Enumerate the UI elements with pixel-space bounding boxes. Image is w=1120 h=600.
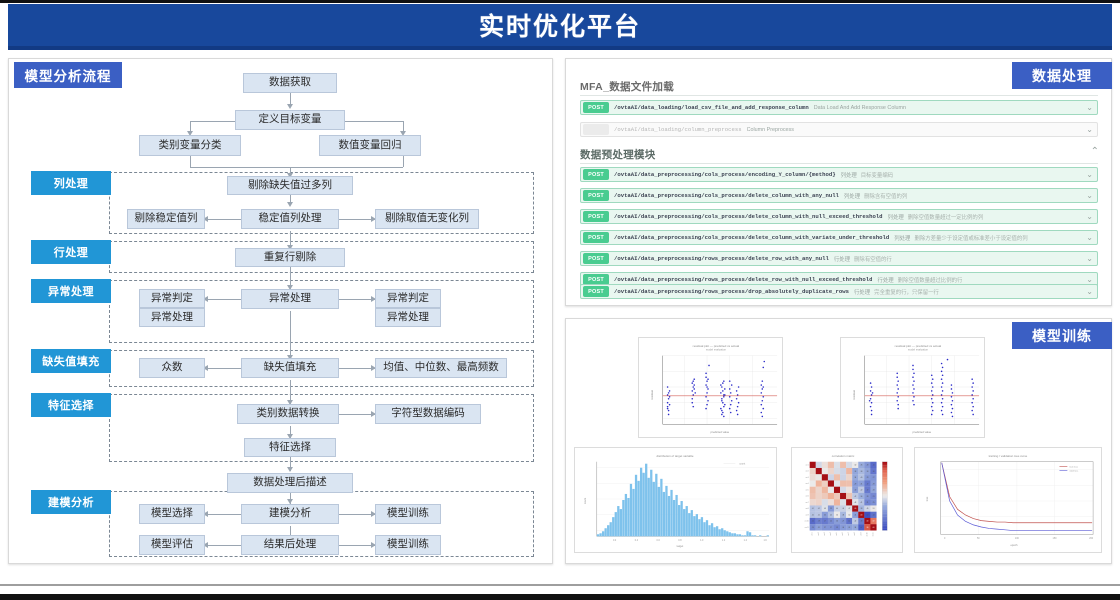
svg-text:.17: .17	[866, 483, 868, 485]
node-model-eval[interactable]: 模型评估	[139, 535, 205, 555]
stage-label-feature[interactable]: 特征选择	[31, 393, 111, 417]
svg-text:var11: var11	[872, 532, 874, 536]
left-edge-rule	[2, 50, 4, 584]
svg-text:150: 150	[1053, 537, 1058, 540]
svg-text:.44: .44	[842, 508, 844, 510]
svg-text:.18: .18	[860, 521, 862, 523]
svg-text:.30: .30	[824, 514, 826, 516]
node-result-post[interactable]: 结果后处理	[241, 535, 339, 555]
app-window: 实时优化平台	[0, 0, 1120, 600]
svg-text:.29: .29	[866, 477, 868, 479]
svg-text:.00: .00	[860, 514, 862, 516]
connector	[205, 219, 241, 220]
api-summary-cn: 删除空值数量超过比例的行	[898, 276, 963, 284]
svg-text:.31: .31	[818, 527, 820, 529]
svg-text:.41: .41	[812, 508, 814, 510]
node-mean-median-mode[interactable]: 均值、中位数、最高频数	[375, 358, 507, 378]
svg-text:.16: .16	[872, 471, 874, 473]
svg-text:var4: var4	[830, 532, 832, 535]
api-operation-row[interactable]: /ovtaAI/data_loading/column_preprocess C…	[580, 122, 1098, 137]
plot-loss-curve[interactable]: training / validation loss curve train l…	[914, 447, 1102, 553]
svg-text:.17: .17	[866, 490, 868, 492]
svg-text:target: target	[677, 544, 684, 548]
arrow-icon	[287, 202, 293, 207]
svg-text:.38: .38	[860, 508, 862, 510]
node-data-acquire[interactable]: 数据获取	[243, 73, 337, 93]
svg-text:.28: .28	[866, 465, 868, 467]
divider	[580, 95, 1098, 96]
svg-text:var6: var6	[805, 496, 808, 498]
svg-text:.50: .50	[836, 514, 838, 516]
svg-text:.41: .41	[860, 502, 862, 504]
svg-text:.30: .30	[842, 527, 844, 529]
api-summary: 列处理	[841, 171, 857, 179]
svg-text:var8: var8	[805, 508, 808, 510]
svg-text:var7: var7	[805, 502, 808, 504]
chevron-down-icon[interactable]: ⌄	[1086, 213, 1093, 221]
stage-label-row[interactable]: 行处理	[31, 240, 111, 264]
api-operation-row[interactable]: POST /ovtaAI/data_preprocessing/cols_pro…	[580, 188, 1098, 203]
svg-text:.42: .42	[860, 490, 862, 492]
connector	[190, 155, 191, 167]
svg-text:.07: .07	[860, 527, 862, 529]
connector	[205, 299, 241, 300]
svg-text:200: 200	[1089, 537, 1094, 540]
svg-text:.31: .31	[848, 527, 850, 529]
svg-text:.11: .11	[872, 465, 874, 467]
data-processing-panel: MFA_数据文件加载 POST /ovtaAI/data_loading/loa…	[565, 58, 1112, 306]
stage-label-outlier[interactable]: 异常处理	[31, 279, 111, 303]
svg-text:.40: .40	[830, 514, 832, 516]
svg-text:.27: .27	[830, 527, 832, 529]
svg-text:100: 100	[1015, 537, 1020, 540]
footer-rule	[0, 584, 1120, 586]
node-post-desc[interactable]: 数据处理后描述	[227, 473, 353, 493]
chevron-down-icon[interactable]: ⌄	[1086, 171, 1093, 179]
flowchart: 列处理 行处理 异常处理 缺失值填充 特征选择 建模分析 数据获取 定义目标变量…	[9, 59, 552, 563]
svg-text:predicted value: predicted value	[913, 430, 932, 434]
api-operation-row[interactable]: POST /ovtaAI/data_loading/load_csv_file_…	[580, 100, 1098, 115]
http-method-badge: POST	[583, 169, 609, 180]
svg-text:var11: var11	[805, 527, 809, 529]
http-method-badge: POST	[583, 232, 609, 243]
svg-text:count: count	[739, 463, 745, 466]
node-drop-stable-col[interactable]: 剔除稳定值列	[127, 209, 205, 229]
svg-text:.27: .27	[824, 527, 826, 529]
node-char-encoding[interactable]: 字符型数据编码	[375, 404, 481, 424]
svg-text:epoch: epoch	[1010, 543, 1018, 547]
chevron-down-icon[interactable]: ⌄	[1086, 288, 1093, 296]
svg-text:.34: .34	[854, 477, 856, 479]
svg-text:.33: .33	[866, 471, 868, 473]
chevron-down-icon[interactable]: ⌄	[1086, 192, 1093, 200]
connector	[339, 219, 375, 220]
node-define-target[interactable]: 定义目标变量	[235, 110, 345, 130]
model-training-badge: 模型训练	[1012, 322, 1112, 349]
svg-text:.48: .48	[824, 508, 826, 510]
svg-text:var10: var10	[866, 532, 868, 536]
http-method-badge: POST	[583, 102, 609, 113]
svg-text:var4: var4	[805, 483, 808, 485]
api-group-title-preprocessing: 数据预处理模块	[580, 147, 656, 162]
node-model-select[interactable]: 模型选择	[139, 504, 205, 524]
chevron-down-icon[interactable]: ⌄	[1086, 126, 1093, 134]
api-summary: 列处理	[888, 213, 904, 221]
svg-text:.40: .40	[860, 477, 862, 479]
svg-text:var5: var5	[836, 532, 838, 535]
svg-text:.31: .31	[854, 514, 856, 516]
api-path: /ovtaAI/data_loading/column_preprocess	[614, 126, 742, 133]
svg-text:.17: .17	[824, 521, 826, 523]
api-operation-row[interactable]: POST /ovtaAI/data_preprocessing/rows_pro…	[580, 251, 1098, 266]
api-summary: Data Load And Add Response Column	[814, 105, 906, 111]
svg-text:var9: var9	[860, 532, 862, 535]
svg-text:training / validation loss cur: training / validation loss curve	[989, 454, 1028, 458]
node-model-train-1[interactable]: 模型训练	[375, 504, 441, 524]
node-outlier-proc-right[interactable]: 异常处理	[375, 308, 441, 327]
svg-text:.34: .34	[854, 527, 856, 529]
api-group-title-loading: MFA_数据文件加载	[580, 79, 674, 94]
api-summary-cn: 删除含有空值的列	[864, 192, 907, 200]
svg-text:.33: .33	[872, 490, 874, 492]
api-summary-cn: 完全重复的行，只保留一行	[874, 288, 939, 296]
api-operation-row[interactable]: POST /ovtaAI/data_preprocessing/cols_pro…	[580, 167, 1098, 182]
svg-text:.02: .02	[866, 514, 868, 516]
connector	[339, 299, 375, 300]
svg-text:train loss: train loss	[1069, 466, 1078, 469]
svg-text:var10: var10	[805, 521, 809, 523]
svg-text:.42: .42	[818, 514, 820, 516]
svg-text:residual: residual	[852, 390, 856, 400]
chevron-up-icon[interactable]: ⌃	[1091, 147, 1099, 157]
node-stable-col-proc[interactable]: 稳定值列处理	[241, 209, 339, 229]
svg-text:.14: .14	[872, 514, 874, 516]
connector	[205, 545, 241, 546]
stage-label-model[interactable]: 建模分析	[31, 490, 111, 514]
connector	[205, 514, 241, 515]
plot-residual-scatter-right[interactable]: residual plot — predicted vs actual mode…	[840, 337, 985, 438]
flow-panel-badge: 模型分析流程	[14, 62, 122, 88]
svg-text:.19: .19	[818, 521, 820, 523]
header-underline	[8, 46, 1112, 50]
api-path: /ovtaAI/data_preprocessing/rows_process/…	[614, 255, 829, 262]
chevron-down-icon[interactable]: ⌄	[1086, 104, 1093, 112]
node-cat-classify[interactable]: 类别变量分类	[139, 135, 241, 156]
api-path: /ovtaAI/data_preprocessing/cols_process/…	[614, 213, 883, 220]
api-path: /ovtaAI/data_preprocessing/cols_process/…	[614, 171, 836, 178]
svg-text:.31: .31	[860, 483, 862, 485]
svg-text:.21: .21	[866, 502, 868, 504]
top-rule	[0, 0, 1120, 3]
plot-distribution-histogram[interactable]: distribution of target variable count 0.…	[574, 447, 777, 553]
svg-text:.44: .44	[836, 508, 838, 510]
node-drop-novary-col[interactable]: 剔除取值无变化列	[375, 209, 479, 229]
connector	[339, 414, 375, 415]
svg-text:.24: .24	[830, 521, 832, 523]
svg-text:.82: .82	[872, 521, 874, 523]
svg-text:var1: var1	[812, 532, 814, 535]
svg-text:predicted value: predicted value	[711, 430, 730, 434]
connector	[339, 545, 375, 546]
api-path: /ovtaAI/data_preprocessing/cols_process/…	[614, 234, 889, 241]
svg-text:residual plot — predicted vs a: residual plot — predicted vs actual	[693, 344, 740, 348]
svg-text:.00: .00	[854, 508, 856, 510]
http-method-badge: POST	[583, 211, 609, 222]
node-outlier-proc-left[interactable]: 异常处理	[139, 308, 205, 327]
divider	[580, 163, 1098, 164]
svg-text:.11: .11	[812, 521, 814, 523]
svg-text:.42: .42	[818, 508, 820, 510]
node-num-regress[interactable]: 数值变量回归	[319, 135, 421, 156]
connector	[190, 167, 403, 168]
svg-text:var7: var7	[848, 532, 850, 535]
svg-text:.47: .47	[848, 508, 850, 510]
svg-text:.48: .48	[854, 502, 856, 504]
node-outlier-judge-left[interactable]: 异常判定	[139, 289, 205, 308]
api-path: /ovtaAI/data_preprocessing/cols_process/…	[614, 192, 839, 199]
page-title: 实时优化平台	[479, 7, 641, 43]
api-operation-row[interactable]: POST /ovtaAI/data_preprocessing/cols_pro…	[580, 230, 1098, 245]
footer-bar	[0, 594, 1120, 600]
api-summary-cn: 目标变量编码	[861, 171, 893, 179]
svg-text:.24: .24	[812, 527, 814, 529]
model-training-panel: residual plot — predicted vs actual mode…	[565, 318, 1112, 564]
node-dup-row-drop[interactable]: 重复行剔除	[235, 248, 345, 267]
svg-text:.23: .23	[836, 527, 838, 529]
svg-text:.29: .29	[872, 483, 874, 485]
data-processing-badge: 数据处理	[1012, 62, 1112, 89]
svg-text:.29: .29	[830, 508, 832, 510]
node-cat-data-convert[interactable]: 类别数据转换	[237, 404, 339, 424]
svg-text:.30: .30	[854, 490, 856, 492]
chevron-down-icon[interactable]: ⌄	[1086, 255, 1093, 263]
api-operation-row[interactable]: POST /ovtaAI/data_preprocessing/rows_pro…	[580, 284, 1098, 299]
svg-text:.50: .50	[848, 514, 850, 516]
api-path: /ovtaAI/data_preprocessing/rows_process/…	[614, 288, 849, 295]
svg-text:.40: .40	[812, 514, 814, 516]
api-summary: 行处理	[854, 288, 870, 296]
svg-text:.42: .42	[854, 496, 856, 498]
svg-text:loss: loss	[925, 496, 929, 501]
node-outlier-proc-center[interactable]: 异常处理	[241, 289, 339, 309]
svg-text:correlation matrix: correlation matrix	[832, 454, 855, 458]
svg-text:var6: var6	[842, 532, 844, 535]
svg-text:.00: .00	[866, 521, 868, 523]
svg-text:var2: var2	[818, 532, 820, 535]
svg-text:var1: var1	[805, 464, 808, 466]
api-summary-cn: 删除有空值的行	[854, 255, 892, 263]
node-missing-fill[interactable]: 缺失值填充	[241, 358, 339, 378]
svg-text:residual: residual	[650, 390, 654, 400]
chevron-down-icon[interactable]: ⌄	[1086, 276, 1093, 284]
api-summary-cn: 删除空值数量超过一定比例的列	[908, 213, 983, 221]
svg-text:.51: .51	[872, 508, 874, 510]
app-header: 实时优化平台	[8, 4, 1112, 46]
svg-text:.28: .28	[866, 496, 868, 498]
svg-text:.30: .30	[836, 521, 838, 523]
node-mode[interactable]: 众数	[139, 358, 205, 378]
svg-text:valid loss: valid loss	[1069, 471, 1078, 473]
svg-text:.27: .27	[842, 521, 844, 523]
node-model-train-2[interactable]: 模型训练	[375, 535, 441, 555]
api-path: /ovtaAI/data_loading/load_csv_file_and_a…	[614, 104, 809, 111]
svg-text:var8: var8	[854, 532, 856, 535]
svg-text:var9: var9	[805, 514, 808, 516]
svg-text:.36: .36	[860, 496, 862, 498]
node-feature-select[interactable]: 特征选择	[244, 438, 336, 457]
svg-text:var3: var3	[805, 477, 808, 479]
svg-text:.38: .38	[842, 514, 844, 516]
svg-text:.23: .23	[872, 496, 874, 498]
api-path: /ovtaAI/data_preprocessing/rows_process/…	[614, 276, 872, 283]
model-analysis-flow-panel: 列处理 行处理 异常处理 缺失值填充 特征选择 建模分析 数据获取 定义目标变量…	[8, 58, 553, 564]
svg-text:.27: .27	[872, 477, 874, 479]
http-method-badge: POST	[583, 286, 609, 297]
svg-text:.45: .45	[866, 508, 868, 510]
node-model-analysis[interactable]: 建模分析	[241, 504, 339, 524]
connector	[339, 368, 375, 369]
api-summary: 列处理	[894, 234, 910, 242]
svg-text:.00: .00	[872, 527, 874, 529]
http-method-badge	[583, 124, 609, 135]
api-summary: 行处理	[834, 255, 850, 263]
svg-text:var3: var3	[824, 532, 826, 535]
stage-label-column[interactable]: 列处理	[31, 171, 111, 195]
svg-text:.38: .38	[860, 471, 862, 473]
stage-label-missing[interactable]: 缺失值填充	[31, 349, 111, 373]
svg-text:.42: .42	[854, 521, 856, 523]
connector	[290, 311, 291, 359]
connector	[339, 514, 375, 515]
plot-correlation-heatmap[interactable]: correlation matrix .50.35.28.11.33.38.33…	[791, 447, 903, 553]
node-outlier-judge-right[interactable]: 异常判定	[375, 289, 441, 308]
arrow-icon	[287, 104, 293, 109]
svg-text:.35: .35	[860, 465, 862, 467]
svg-text:.29: .29	[854, 483, 856, 485]
svg-text:residual plot — predicted vs a: residual plot — predicted vs actual	[895, 344, 942, 348]
svg-text:model evaluation: model evaluation	[908, 348, 929, 352]
api-summary: 行处理	[877, 276, 893, 284]
http-method-badge: POST	[583, 190, 609, 201]
connector	[205, 368, 241, 369]
api-summary-cn: 删除方差量少于设定值或标准差小于设定值的列	[914, 234, 1027, 242]
svg-text:var2: var2	[805, 471, 808, 473]
svg-text:.90: .90	[866, 527, 868, 529]
svg-text:.50: .50	[854, 465, 856, 467]
http-method-badge: POST	[583, 253, 609, 264]
chevron-down-icon[interactable]: ⌄	[1086, 234, 1093, 242]
api-summary: Column Preprocess	[747, 127, 794, 133]
arrow-icon	[287, 467, 293, 472]
svg-text:distribution of target variabl: distribution of target variable	[656, 454, 693, 458]
svg-text:var5: var5	[805, 489, 808, 491]
api-operation-row[interactable]: POST /ovtaAI/data_preprocessing/cols_pro…	[580, 209, 1098, 224]
svg-text:.33: .33	[854, 471, 856, 473]
svg-text:model evaluation: model evaluation	[706, 348, 727, 352]
svg-text:.14: .14	[848, 521, 850, 523]
svg-text:.25: .25	[872, 502, 874, 504]
node-drop-many-missing[interactable]: 剔除缺失值过多列	[227, 176, 353, 195]
api-summary: 列处理	[844, 192, 860, 200]
svg-text:count: count	[583, 498, 587, 504]
connector	[403, 155, 404, 167]
plot-residual-scatter-left[interactable]: residual plot — predicted vs actual mode…	[638, 337, 783, 438]
